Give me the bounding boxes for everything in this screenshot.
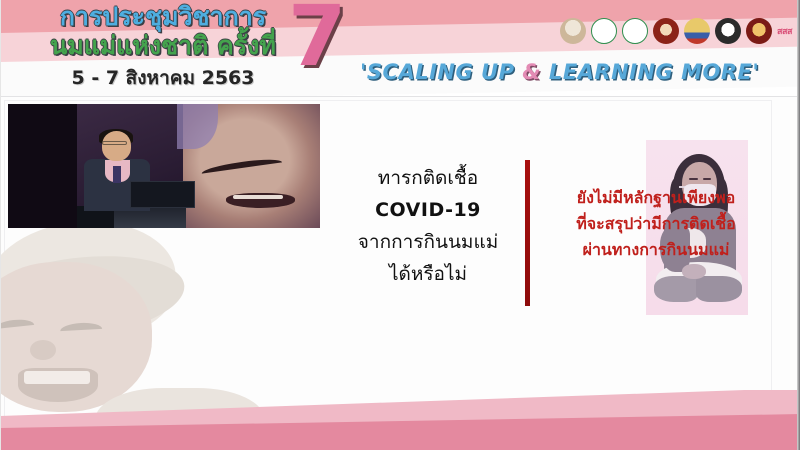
conference-edition-number: 7 — [288, 0, 346, 78]
health-department-logo — [622, 18, 648, 44]
thai-flag-emblem-logo — [684, 18, 710, 44]
vertical-red-divider — [525, 160, 530, 306]
speaker-glasses-shape — [102, 141, 127, 145]
tagline-text-before-amp: 'SCALING UP — [360, 60, 522, 84]
organizer-logo-strip: สสส — [560, 18, 792, 44]
thai-royal-emblem-logo — [746, 18, 772, 44]
answer-text-block: ยังไม่มีหลักฐานเพียงพอ ที่จะสรุปว่ามีการ… — [540, 185, 772, 263]
question-line-3: จากการกินนมแม่ — [338, 226, 518, 258]
presentation-slide: การประชุมวิชาการ นมแม่แห่งชาติ ครั้งที่ … — [0, 0, 800, 450]
mother-right-eyebrow-shape — [703, 178, 711, 180]
tagline-text-after-amp: LEARNING MORE' — [541, 60, 759, 84]
mother-hand-shape — [682, 264, 706, 279]
mother-left-eyebrow-shape — [689, 178, 698, 180]
sponsor-logo-thaihealth: สสส — [777, 24, 792, 38]
tagline-ampersand: & — [522, 60, 541, 84]
stage-wall-left — [8, 104, 77, 228]
mother-right-leg-shape — [696, 276, 742, 302]
conference-title-line2: นมแม่แห่งชาติ ครั้งที่ — [18, 31, 308, 60]
conference-date: 5 - 7 สิงหาคม 2563 — [18, 63, 308, 93]
child-nose-shape — [30, 340, 56, 360]
nursing-council-logo — [715, 18, 741, 44]
child-teeth-shape — [24, 371, 90, 384]
conference-title-block: การประชุมวิชาการ นมแม่แห่งชาติ ครั้งที่ … — [18, 2, 308, 93]
conference-tagline: 'SCALING UP & LEARNING MORE' — [360, 60, 759, 84]
slide-main-content: ทารกติดเชื้อ COVID-19 จากการกินนมแม่ ได้… — [326, 100, 772, 400]
speaker-tie-shape — [113, 166, 121, 183]
question-text-block: ทารกติดเชื้อ COVID-19 จากการกินนมแม่ ได้… — [338, 162, 518, 290]
question-line-1: ทารกติดเชื้อ — [338, 162, 518, 194]
conference-title-line1: การประชุมวิชาการ — [18, 2, 308, 31]
speaker-head-shape — [102, 131, 132, 161]
answer-line-2: ที่จะสรุปว่ามีการติดเชื้อ — [540, 211, 772, 237]
header-separator-line — [0, 96, 800, 97]
projected-baby-teeth — [233, 195, 283, 200]
podium-laptop-shape — [130, 181, 196, 208]
question-line-2: COVID-19 — [338, 194, 518, 226]
webinar-speaker-video[interactable] — [8, 104, 320, 228]
answer-line-3: ผ่านทางการกินนมแม่ — [540, 237, 772, 263]
bottom-decorative-band — [0, 390, 800, 450]
ministry-public-health-logo — [591, 18, 617, 44]
slide-header-banner: การประชุมวิชาการ นมแม่แห่งชาติ ครั้งที่ … — [0, 0, 800, 97]
answer-line-1: ยังไม่มีหลักฐานเพียงพอ — [540, 185, 772, 211]
royal-college-pediatrics-logo — [653, 18, 679, 44]
thai-breastfeeding-foundation-logo — [560, 18, 586, 44]
question-line-4: ได้หรือไม่ — [338, 258, 518, 290]
mother-left-leg-shape — [654, 276, 698, 302]
window-frame-left-edge — [0, 0, 1, 450]
